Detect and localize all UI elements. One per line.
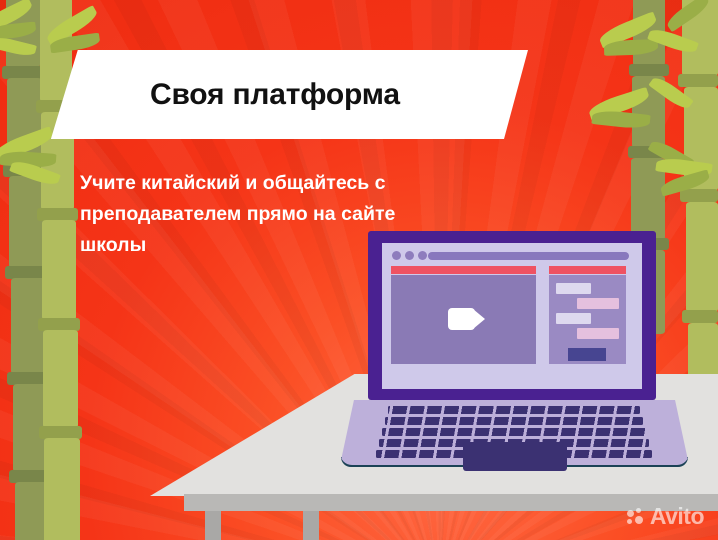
video-section-header-bar bbox=[391, 266, 536, 274]
chat-message-bubble bbox=[577, 298, 619, 309]
promo-banner-image: Своя платформа Учите китайский и общайте… bbox=[0, 0, 718, 540]
subtitle-line-1: Учите китайский и общайтесь с bbox=[80, 168, 490, 199]
laptop-trackpad[interactable] bbox=[463, 442, 567, 471]
avito-dots-logo-icon bbox=[627, 508, 645, 526]
chat-message-bubble bbox=[556, 313, 591, 324]
chat-send-button[interactable] bbox=[568, 348, 606, 361]
chat-message-bubble bbox=[577, 328, 619, 339]
chat-section-header-bar bbox=[549, 266, 626, 274]
chat-message-bubble bbox=[556, 283, 591, 294]
desk-leg bbox=[303, 511, 319, 540]
avito-watermark-text: Avito bbox=[650, 505, 704, 528]
page-title: Своя платформа bbox=[150, 78, 400, 112]
desk-leg bbox=[205, 511, 221, 540]
video-camera-lens-icon bbox=[473, 309, 485, 329]
subtitle-line-2: преподавателем прямо на сайте bbox=[80, 199, 490, 230]
subtitle-line-3: школы bbox=[80, 230, 490, 261]
video-camera-icon bbox=[448, 308, 475, 330]
subtitle-text: Учите китайский и общайтесь с преподават… bbox=[80, 168, 490, 261]
avito-watermark: Avito bbox=[627, 505, 704, 528]
